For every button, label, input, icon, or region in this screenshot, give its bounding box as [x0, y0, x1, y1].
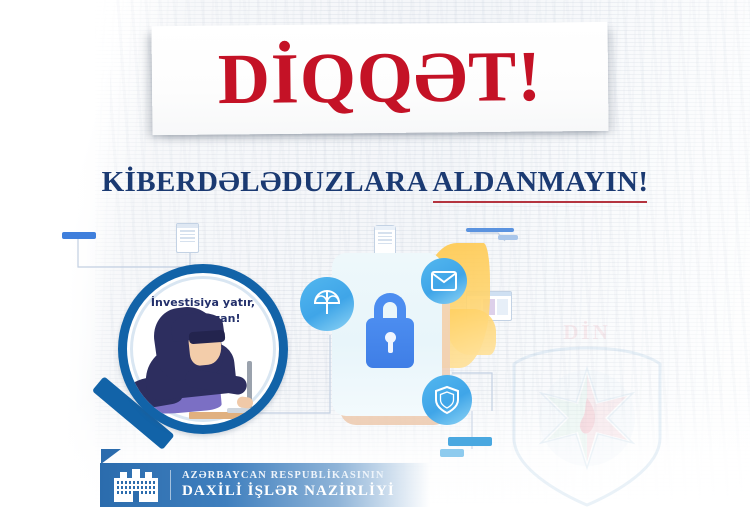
poster-root: DİN DİQQƏT! KİBERDƏLƏDUZLARA ALDANMAYIN! — [0, 0, 750, 511]
magnifier-lens: İnvestisiya yatır, gəlir qazan! — [118, 264, 288, 434]
magnifier: İnvestisiya yatır, gəlir qazan! — [112, 262, 302, 462]
subtitle: KİBERDƏLƏDUZLARA ALDANMAYIN! — [0, 166, 750, 199]
envelope-icon — [421, 258, 467, 304]
umbrella-icon — [300, 277, 354, 331]
ministry-building-icon — [112, 468, 160, 502]
umbrella-glyph — [312, 289, 342, 319]
desk-top — [189, 412, 288, 419]
figure-eye-mask — [189, 330, 226, 344]
mini-bar-icon-4 — [448, 437, 492, 446]
mini-bar-icon-2 — [466, 228, 514, 232]
page-title: DİQQƏT! — [152, 39, 609, 115]
footer-org-line-1: AZƏRBAYCAN RESPUBLİKASININ — [182, 470, 385, 481]
footer-org-line-2: DAXİLİ İŞLƏR NAZİRLİYİ — [182, 483, 395, 500]
envelope-glyph — [431, 271, 457, 291]
shield-icon — [422, 375, 472, 425]
key-shape-secondary — [448, 309, 496, 355]
subtitle-emphasis-part: ALDANMAYIN! — [432, 166, 648, 200]
subtitle-plain-part: KİBERDƏLƏDUZLARA — [102, 166, 433, 198]
shield-glyph — [434, 385, 460, 415]
title-banner: DİQQƏT! — [151, 22, 608, 135]
mini-bar-icon-5 — [440, 449, 464, 457]
mini-bar-icon-1 — [62, 232, 96, 239]
footer-divider — [170, 470, 171, 500]
mini-bar-icon-3 — [498, 235, 518, 240]
padlock-keyhole-stem — [388, 339, 393, 353]
laptop-base — [227, 408, 261, 413]
document-icon-1 — [176, 223, 199, 253]
desk-leg — [257, 419, 261, 434]
fraudster-figure — [127, 273, 288, 434]
footer-triangle-accent — [101, 449, 121, 464]
